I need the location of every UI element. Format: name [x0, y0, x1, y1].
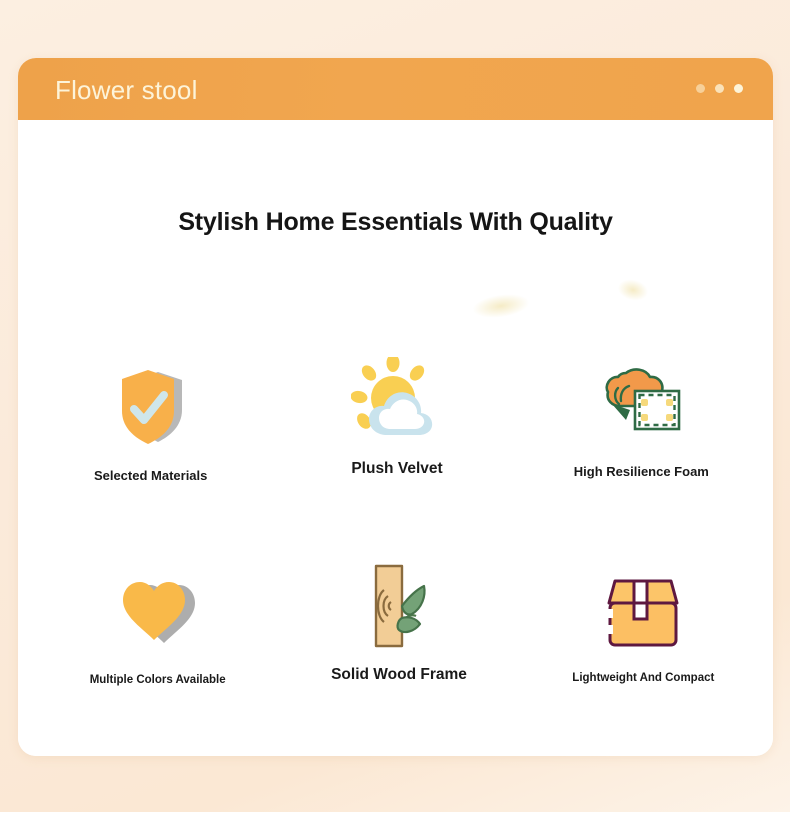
page-title: Flower stool [55, 75, 198, 106]
window-dot-3-icon[interactable] [734, 84, 743, 93]
feature-label: Plush Velvet [351, 460, 442, 478]
feature-label: Multiple Colors Available [90, 674, 226, 686]
feature-item[interactable]: Multiple Colors Available [41, 568, 274, 756]
feature-item[interactable]: Selected Materials [34, 362, 267, 570]
feature-label: High Resilience Foam [574, 464, 709, 479]
sun-cloud-icon [351, 354, 443, 446]
feature-item[interactable]: Solid Wood Frame [282, 560, 515, 756]
screenshot-root: Flower stool Stylish Home Essentials Wit… [0, 0, 790, 834]
feature-item[interactable]: High Resilience Foam [525, 358, 758, 566]
window-dot-1-icon[interactable] [696, 84, 705, 93]
feature-grid: Selected Materials [48, 350, 748, 756]
window-dot-2-icon[interactable] [715, 84, 724, 93]
feature-label: Solid Wood Frame [331, 666, 467, 684]
cardboard-box-icon [605, 566, 681, 658]
window-dots[interactable] [696, 84, 743, 93]
feature-item[interactable]: Lightweight And Compact [527, 566, 760, 756]
tree-frame-icon [596, 358, 686, 450]
feature-label: Selected Materials [94, 468, 207, 483]
decorative-smudge-icon [472, 291, 531, 321]
feature-item[interactable]: Plush Velvet [280, 354, 513, 562]
wood-plank-leaf-icon [358, 560, 440, 652]
decorative-smudge-2-icon [616, 277, 650, 304]
heart-icon [116, 568, 200, 660]
card-body: Stylish Home Essentials With Quality Sel… [18, 120, 773, 756]
product-info-card: Flower stool Stylish Home Essentials Wit… [18, 58, 773, 756]
feature-label: Lightweight And Compact [572, 672, 714, 684]
card-header-bar: Flower stool [18, 58, 773, 120]
headline: Stylish Home Essentials With Quality [18, 208, 773, 237]
shield-check-icon [112, 362, 190, 454]
